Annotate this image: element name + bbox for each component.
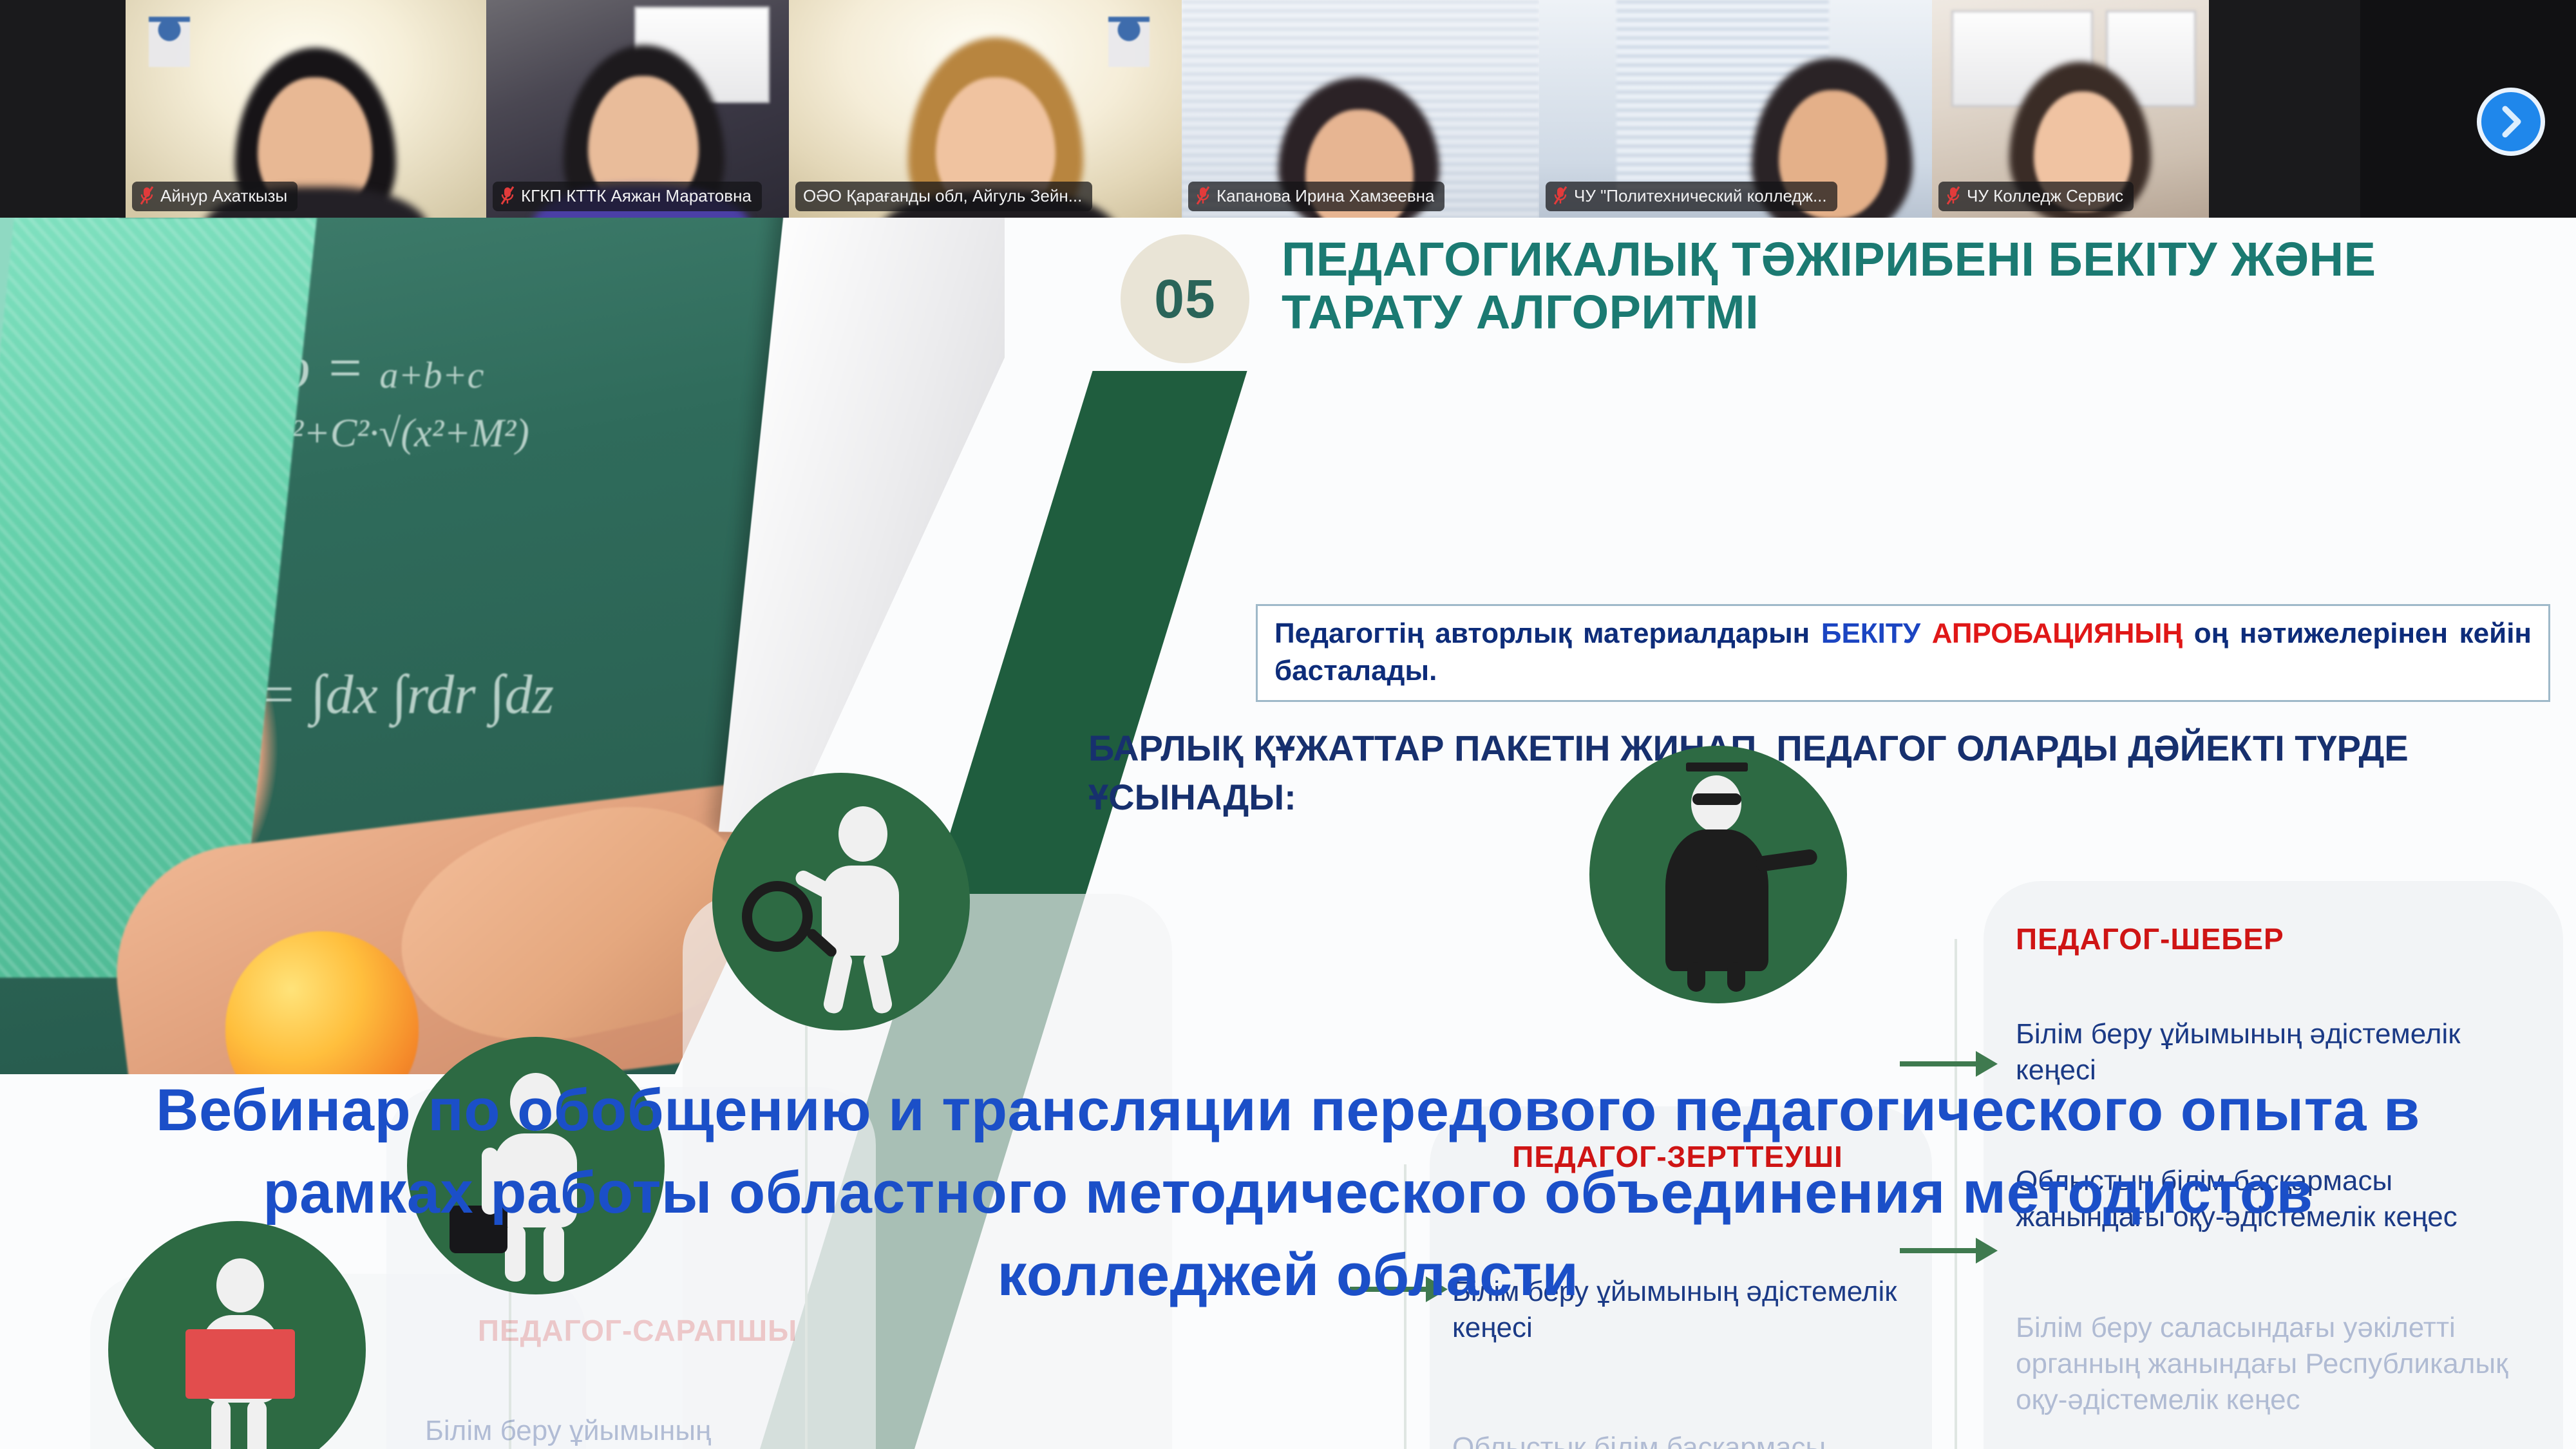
participant-name-badge: ОӘО Қарағанды обл, Айгуль Зейн... [795,182,1092,211]
column-sheber: ПЕДАГОГ-ШЕБЕР [2016,921,2544,957]
role-label-sheber: ПЕДАГОГ-ШЕБЕР [2016,921,2544,957]
muted-microphone-icon [1196,186,1210,205]
participant-filmstrip: Айнур Ахаткызы КГКП КТТК Аяжан Маратовна [0,0,2576,218]
muted-microphone-icon [140,186,154,205]
participant-name-badge: Капанова Ирина Хамзеевна [1188,182,1444,211]
filmstrip-right-pad [2209,0,2360,218]
role-label-sarapshy: ПЕДАГОГ-САРАПШЫ [412,1312,863,1349]
participant-tile-1[interactable]: Айнур Ахаткызы [126,0,486,218]
person-graduate-pointing-icon [1589,746,1847,1003]
participant-name: КГКП КТТК Аяжан Маратовна [521,186,752,205]
statement-bekitu: БЕКІТУ [1821,618,1920,649]
participant-tile-4[interactable]: Капанова Ирина Хамзеевна [1182,0,1539,218]
statement-box: Педагогтің авторлық материалдарын БЕКІТУ… [1256,604,2550,702]
participant-name-badge: ЧУ Колледж Сервис [1938,182,2134,211]
slide-number-badge: 05 [1121,234,1249,363]
list-item: Білім беру саласындағы уәкілетті органны… [2016,1310,2524,1418]
list-item: Білім беру ұйымының әдістемелік кеңесі [425,1413,850,1449]
slide-number: 05 [1154,268,1215,330]
column-sarapshy: ПЕДАГОГ-САРАПШЫ [412,1312,863,1349]
filmstrip-left-pad [0,0,126,218]
participant-name-badge: Айнур Ахаткызы [132,182,298,211]
participant-tile-2[interactable]: КГКП КТТК Аяжан Маратовна [486,0,789,218]
muted-microphone-icon [1946,186,1960,205]
statement-part1: Педагогтің авторлық материалдарын [1274,618,1821,649]
participant-name: ЧУ Колледж Сервис [1967,186,2123,205]
participant-name: ЧУ "Политехнический колледж... [1574,186,1827,205]
list-item: Облыстық білім басқармасы жанындағы оқу-… [1452,1430,1916,1449]
participant-tile-5[interactable]: ЧУ "Политехнический колледж... [1539,0,1932,218]
slide-title: ПЕДАГОГИКАЛЫҚ ТӘЖІРИБЕНІ БЕКІТУ ЖӘНЕ ТАР… [1282,233,2570,339]
institution-emblem-icon [1108,17,1150,67]
zoom-meeting-screen: Айнур Ахаткызы КГКП КТТК Аяжан Маратовна [0,0,2576,1449]
participant-tile-3[interactable]: ОӘО Қарағанды обл, Айгуль Зейн... [789,0,1182,218]
slide-header: 05 ПЕДАГОГИКАЛЫҚ ТӘЖІРИБЕНІ БЕКІТУ ЖӘНЕ … [1121,223,2576,371]
muted-microphone-icon [1553,186,1567,205]
institution-emblem-icon [149,17,190,67]
person-with-magnifier-icon [712,773,970,1030]
chevron-right-icon [2496,104,2526,140]
statement-period: . [1429,655,1437,687]
participant-name: ОӘО Қарағанды обл, Айгуль Зейн... [803,186,1082,205]
muted-microphone-icon [500,186,515,205]
participant-name: Айнур Ахаткызы [160,186,287,205]
statement-aprobaciya: АПРОБАЦИЯНЫҢ [1932,618,2183,649]
participant-tile-6[interactable]: ЧУ Колледж Сервис [1932,0,2209,218]
participant-name-badge: КГКП КТТК Аяжан Маратовна [493,182,762,211]
column-sarapshy-items: Білім беру ұйымының әдістемелік кеңесі О… [425,1413,850,1449]
participant-name-badge: ЧУ "Политехнический колледж... [1546,182,1837,211]
participant-name: Капанова Ирина Хамзеевна [1217,186,1434,205]
next-participants-button[interactable] [2477,88,2545,156]
webinar-caption-overlay: Вебинар по обобщению и трансляции передо… [0,1069,2576,1316]
